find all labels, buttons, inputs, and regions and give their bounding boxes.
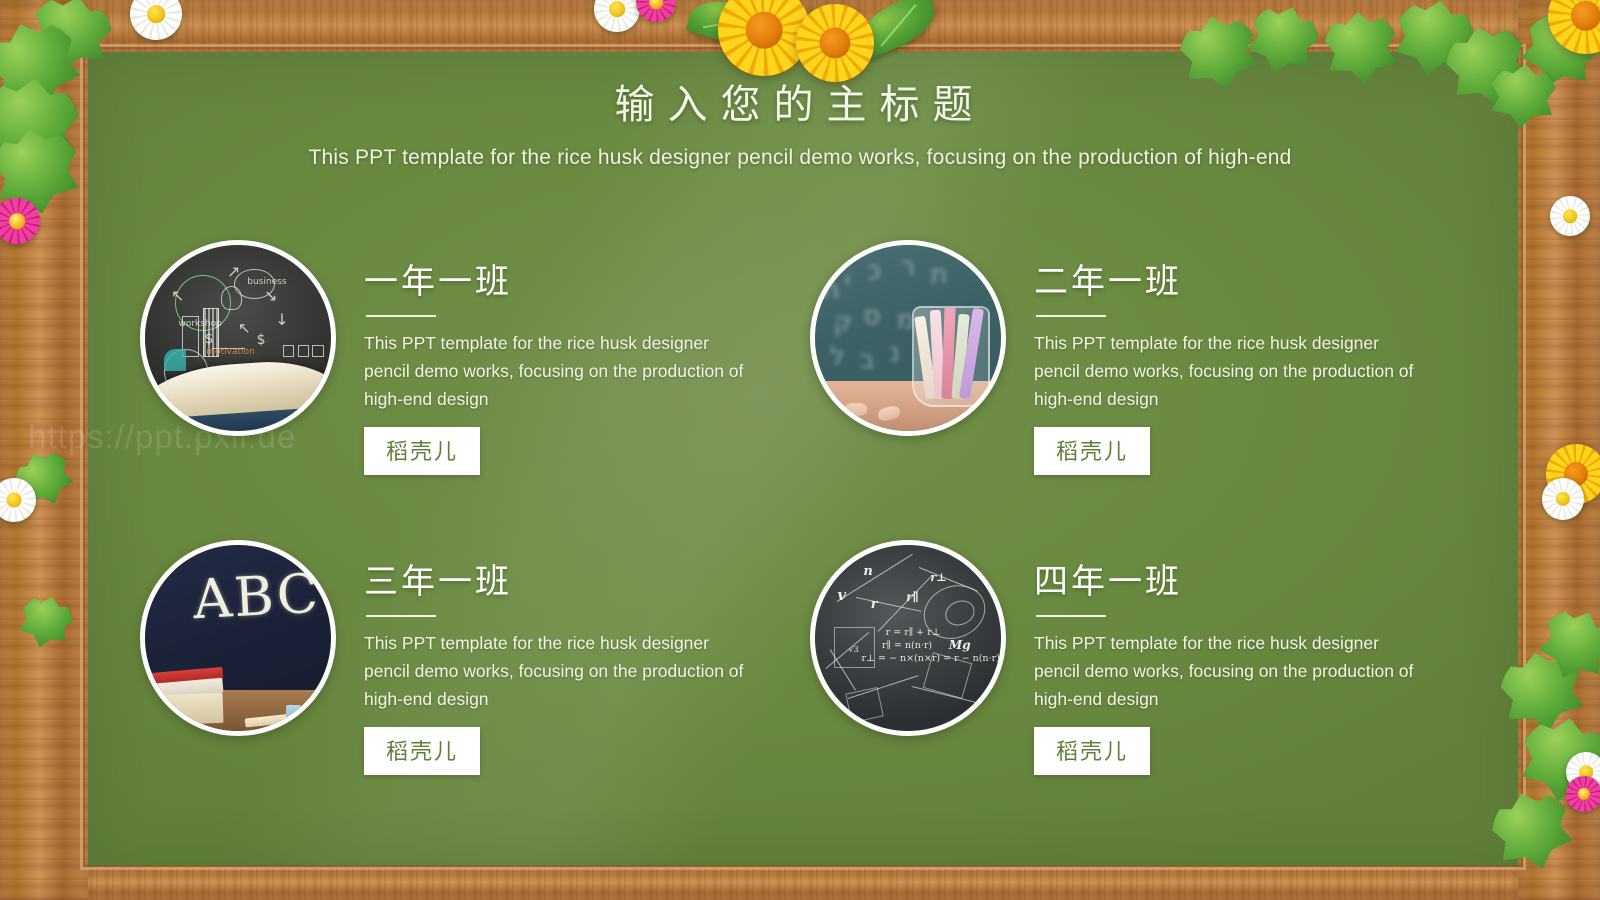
slide-header: 输入您的主标题 This PPT template for the rice h… [0,0,1600,170]
card-title: 四年一班 [1034,554,1454,603]
chalk-jar-teal-board-photo[interactable]: ח י כ ר ת ק ס מ ל ב נ [810,240,1006,436]
class-card: ABC 三年一班 This PPT template for the rice … [140,540,790,840]
title-divider [366,615,436,617]
abc-chalkboard-books-photo[interactable]: ABC [140,540,336,736]
card-description: This PPT template for the rice husk desi… [364,629,756,713]
title-divider [1036,315,1106,317]
page-subtitle: This PPT template for the rice husk desi… [0,146,1600,170]
blackboard-doodles-open-book-photo[interactable]: workshop business motivation $ $ ↖ ↗ ↘ ↓… [140,240,336,436]
class-card: workshop business motivation $ $ ↖ ↗ ↘ ↓… [140,240,790,540]
card-title: 一年一班 [364,254,784,303]
pink-flower-icon [1566,776,1600,812]
title-divider [1036,615,1106,617]
card-text-block: 一年一班 This PPT template for the rice husk… [364,240,784,475]
card-action-button[interactable]: 稻壳儿 [1034,727,1150,775]
card-description: This PPT template for the rice husk desi… [1034,629,1426,713]
daisy-flower-icon [0,478,36,522]
daisy-flower-icon [1550,196,1590,236]
class-card: n v r r∥ r⊥ Mg r = r∥ + r⊥ r∥ = n(n·r) r… [810,540,1460,840]
class-card: ח י כ ר ת ק ס מ ל ב נ [810,240,1460,540]
daisy-flower-icon [1542,478,1584,520]
card-description: This PPT template for the rice husk desi… [364,329,756,413]
card-text-block: 二年一班 This PPT template for the rice husk… [1034,240,1454,475]
class-card-grid: workshop business motivation $ $ ↖ ↗ ↘ ↓… [140,240,1460,840]
abc-chalk-text: ABC [192,562,322,632]
slide-root: 输入您的主标题 This PPT template for the rice h… [0,0,1600,900]
page-title: 输入您的主标题 [0,72,1600,130]
card-text-block: 四年一班 This PPT template for the rice husk… [1034,540,1454,775]
card-action-button[interactable]: 稻壳儿 [364,727,480,775]
wood-frame-bottom [0,866,1600,900]
card-action-button[interactable]: 稻壳儿 [1034,427,1150,475]
pink-flower-icon [0,198,40,244]
card-title: 三年一班 [364,554,784,603]
card-description: This PPT template for the rice husk desi… [1034,329,1426,413]
physics-formulas-board-photo[interactable]: n v r r∥ r⊥ Mg r = r∥ + r⊥ r∥ = n(n·r) r… [810,540,1006,736]
card-text-block: 三年一班 This PPT template for the rice husk… [364,540,784,775]
card-action-button[interactable]: 稻壳儿 [364,427,480,475]
title-divider [366,315,436,317]
card-title: 二年一班 [1034,254,1454,303]
